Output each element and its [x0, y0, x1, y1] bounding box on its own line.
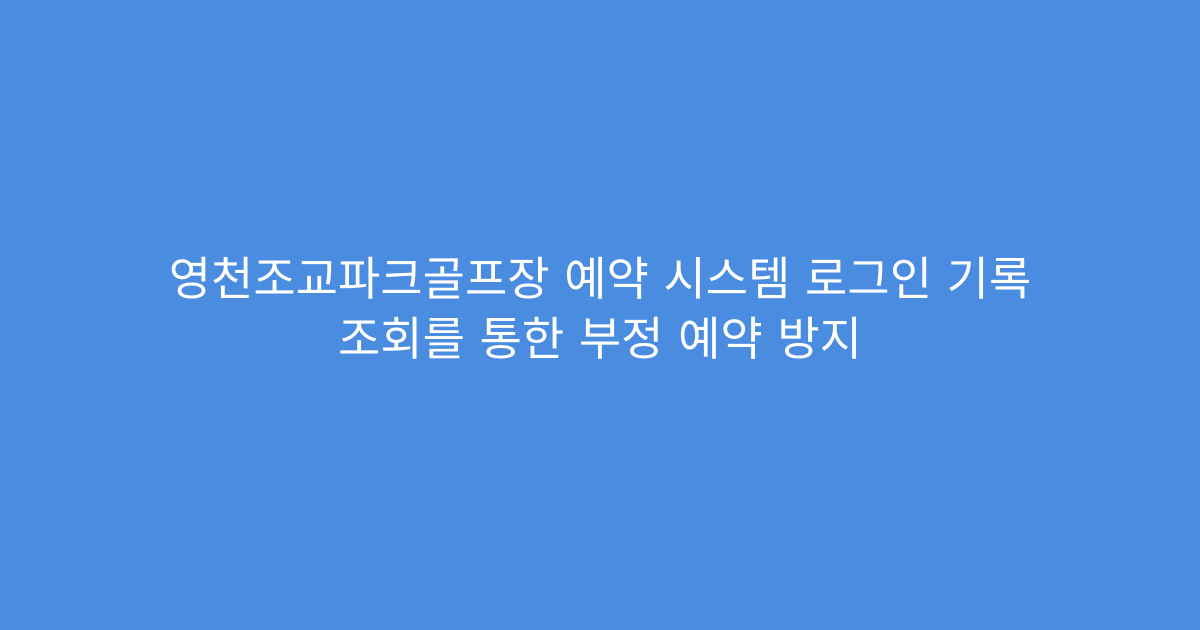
- headline-block: 영천조교파크골프장 예약 시스템 로그인 기록 조회를 통한 부정 예약 방지: [70, 249, 1130, 369]
- headline-line-1: 영천조교파크골프장 예약 시스템 로그인 기록: [90, 249, 1110, 309]
- headline-line-2: 조회를 통한 부정 예약 방지: [90, 309, 1110, 369]
- banner-card: 영천조교파크골프장 예약 시스템 로그인 기록 조회를 통한 부정 예약 방지: [0, 0, 1200, 630]
